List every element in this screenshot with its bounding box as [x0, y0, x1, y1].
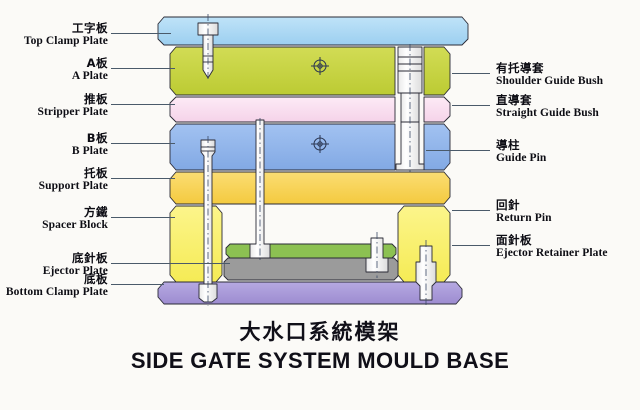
leader-line-right-1 — [452, 105, 490, 106]
label-straight-guide-bush: 直導套 Straight Guide Bush — [496, 94, 640, 120]
label-spacer-block: 方鐵 Spacer Block — [0, 206, 108, 232]
plate-stripper-plate-left — [170, 97, 395, 122]
leader-line-left-7 — [111, 284, 164, 285]
leader-line-left-1 — [111, 68, 175, 69]
label-b-plate: B板 B Plate — [0, 132, 108, 158]
label-spacer-block-en: Spacer Block — [0, 219, 108, 232]
label-shoulder-guide-bush-cn: 有托導套 — [496, 62, 640, 75]
label-top-clamp-plate-en: Top Clamp Plate — [0, 35, 108, 48]
label-b-plate-en: B Plate — [0, 145, 108, 158]
label-ejector-retainer-plate: 面針板 Ejector Retainer Plate — [496, 234, 640, 260]
top-clamp-screw-shank — [203, 35, 213, 78]
mould-base-diagram-page: 工字板 Top Clamp Plate A板 A Plate 推板 Stripp… — [0, 0, 640, 410]
label-ejector-retainer-plate-en: Ejector Retainer Plate — [496, 247, 640, 260]
label-support-plate: 托板 Support Plate — [0, 167, 108, 193]
leader-line-left-4 — [111, 178, 175, 179]
leader-line-right-2 — [426, 150, 490, 151]
label-bottom-clamp-plate-cn: 底板 — [0, 273, 108, 286]
plate-b-plate-right — [424, 124, 450, 170]
label-shoulder-guide-bush: 有托導套 Shoulder Guide Bush — [496, 62, 640, 88]
leader-line-left-3 — [111, 143, 175, 144]
label-bottom-clamp-plate: 底板 Bottom Clamp Plate — [0, 273, 108, 299]
label-b-plate-cn: B板 — [0, 132, 108, 145]
label-shoulder-guide-bush-en: Shoulder Guide Bush — [496, 75, 640, 88]
label-return-pin-en: Return Pin — [496, 212, 640, 225]
label-ejector-plate-cn: 底針板 — [0, 252, 108, 265]
label-straight-guide-bush-en: Straight Guide Bush — [496, 107, 640, 120]
leader-line-left-2 — [111, 104, 175, 105]
diagram-title-cn: 大水口系統模架 — [0, 316, 640, 346]
label-a-plate: A板 A Plate — [0, 57, 108, 83]
label-guide-pin-cn: 導柱 — [496, 139, 640, 152]
diagram-title: 大水口系統模架 SIDE GATE SYSTEM MOULD BASE — [0, 316, 640, 374]
label-return-pin-cn: 回針 — [496, 199, 640, 212]
diagram-title-en: SIDE GATE SYSTEM MOULD BASE — [0, 348, 640, 374]
plate-spacer-block-left — [170, 206, 222, 282]
leader-line-right-3 — [452, 210, 490, 211]
label-a-plate-cn: A板 — [0, 57, 108, 70]
leader-line-right-4 — [452, 245, 490, 246]
plate-stripper-plate-right — [424, 97, 450, 122]
leader-line-left-0 — [111, 33, 171, 34]
plate-a-plate-right — [424, 47, 450, 95]
label-support-plate-en: Support Plate — [0, 180, 108, 193]
label-guide-pin-en: Guide Pin — [496, 152, 640, 165]
label-support-plate-cn: 托板 — [0, 167, 108, 180]
label-straight-guide-bush-cn: 直導套 — [496, 94, 640, 107]
label-top-clamp-plate-cn: 工字板 — [0, 22, 108, 35]
label-stripper-plate-en: Stripper Plate — [0, 106, 108, 119]
label-stripper-plate-cn: 推板 — [0, 93, 108, 106]
label-top-clamp-plate: 工字板 Top Clamp Plate — [0, 22, 108, 48]
label-bottom-clamp-plate-en: Bottom Clamp Plate — [0, 286, 108, 299]
leader-line-left-5 — [111, 217, 175, 218]
label-a-plate-en: A Plate — [0, 70, 108, 83]
leader-line-right-0 — [452, 73, 490, 74]
label-spacer-block-cn: 方鐵 — [0, 206, 108, 219]
label-return-pin: 回針 Return Pin — [496, 199, 640, 225]
label-ejector-retainer-plate-cn: 面針板 — [496, 234, 640, 247]
leader-line-left-6 — [111, 263, 230, 264]
label-guide-pin: 導柱 Guide Pin — [496, 139, 640, 165]
label-stripper-plate: 推板 Stripper Plate — [0, 93, 108, 119]
